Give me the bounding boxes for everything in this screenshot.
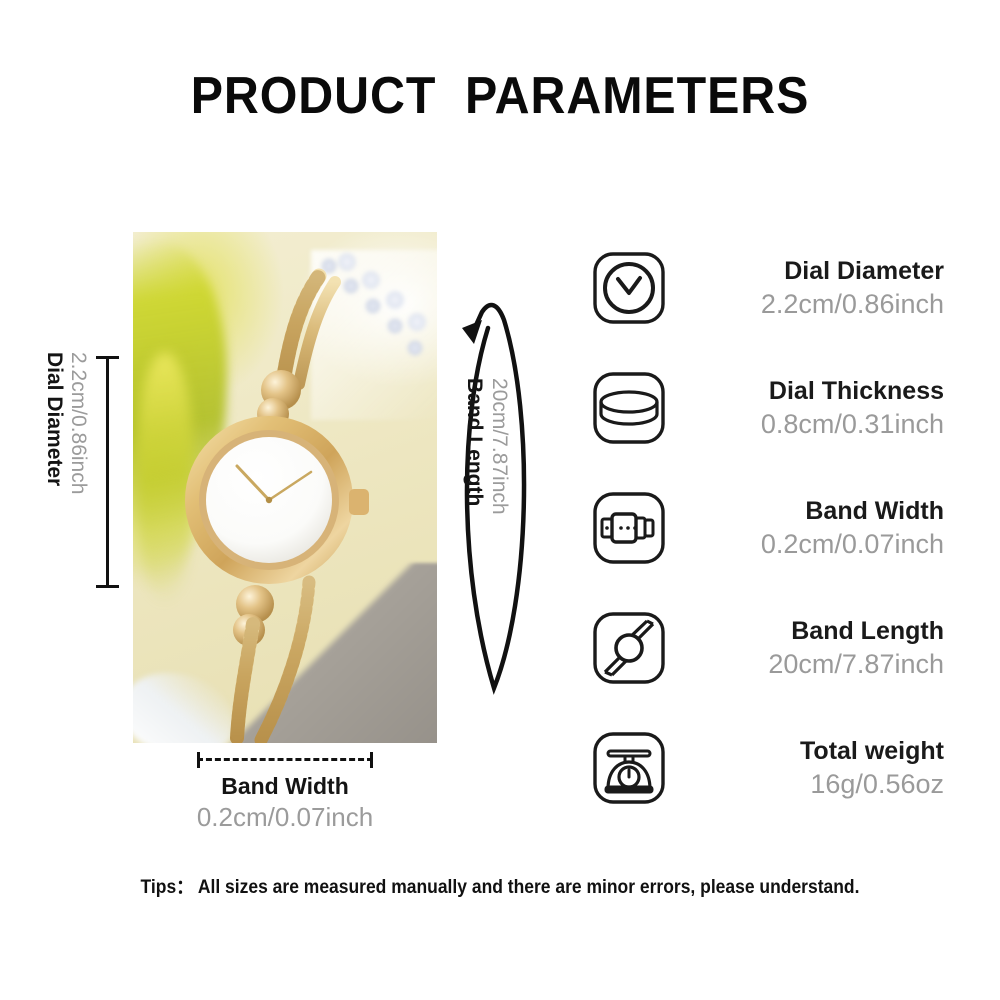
band-length-loop-label: 20cm/7.87inch Band Length [462,378,512,608]
spec-value: 2.2cm/0.86inch [668,287,944,321]
spec-value: 16g/0.56oz [668,767,944,801]
band-width-measure-line [197,752,373,768]
band-length-loop-name: Band Length [462,378,487,608]
footer-tips: Tips： All sizes are measured manually an… [40,872,960,899]
band-width-label: Band Width 0.2cm/0.07inch [120,772,450,833]
spec-row-dial-diameter: Dial Diameter 2.2cm/0.86inch [580,228,950,348]
spec-text-band-width: Band Width 0.2cm/0.07inch [668,496,950,561]
watch-band-icon [590,489,668,567]
dial-diameter-vertical-label: 2.2cm/0.86inch Dial Diameter [42,352,90,592]
watch-illustration [133,232,437,743]
product-photo [133,232,437,743]
spec-text-total-weight: Total weight 16g/0.56oz [668,736,950,801]
spec-value: 20cm/7.87inch [668,647,944,681]
spec-row-dial-thickness: Dial Thickness 0.8cm/0.31inch [580,348,950,468]
spec-name: Band Length [668,616,944,647]
page-title: PRODUCT PARAMETERS [35,66,965,126]
spec-row-band-length: Band Length 20cm/7.87inch [580,588,950,708]
measure-bar-line [106,356,109,588]
measure-bar-cap-top [96,356,119,359]
spec-row-total-weight: Total weight 16g/0.56oz [580,708,950,828]
spec-name: Dial Thickness [668,376,944,407]
band-width-name: Band Width [120,772,450,801]
band-width-value: 0.2cm/0.07inch [120,801,450,833]
watch-strap-diagonal-icon [590,609,668,687]
spec-text-dial-thickness: Dial Thickness 0.8cm/0.31inch [668,376,950,441]
dial-diameter-vertical-value: 2.2cm/0.86inch [66,352,90,592]
spec-text-band-length: Band Length 20cm/7.87inch [668,616,950,681]
spec-value: 0.2cm/0.07inch [668,527,944,561]
spec-name: Dial Diameter [668,256,944,287]
spec-name: Total weight [668,736,944,767]
spec-list: Dial Diameter 2.2cm/0.86inch Dial Thickn… [580,228,950,828]
band-length-loop-value: 20cm/7.87inch [487,378,512,608]
spec-value: 0.8cm/0.31inch [668,407,944,441]
measure-bar-cap-bottom [96,585,119,588]
spec-name: Band Width [668,496,944,527]
measure-line-cap-right [370,752,373,768]
dial-diameter-measure-bar [96,356,118,588]
measure-dashed-line [197,758,373,761]
spec-text-dial-diameter: Dial Diameter 2.2cm/0.86inch [668,256,950,321]
spec-row-band-width: Band Width 0.2cm/0.07inch [580,468,950,588]
measure-line-cap-left [197,752,200,768]
dial-diameter-vertical-name: Dial Diameter [42,352,66,592]
watch-dial-icon [590,249,668,327]
kitchen-scale-icon [590,729,668,807]
disc-thickness-icon [590,369,668,447]
